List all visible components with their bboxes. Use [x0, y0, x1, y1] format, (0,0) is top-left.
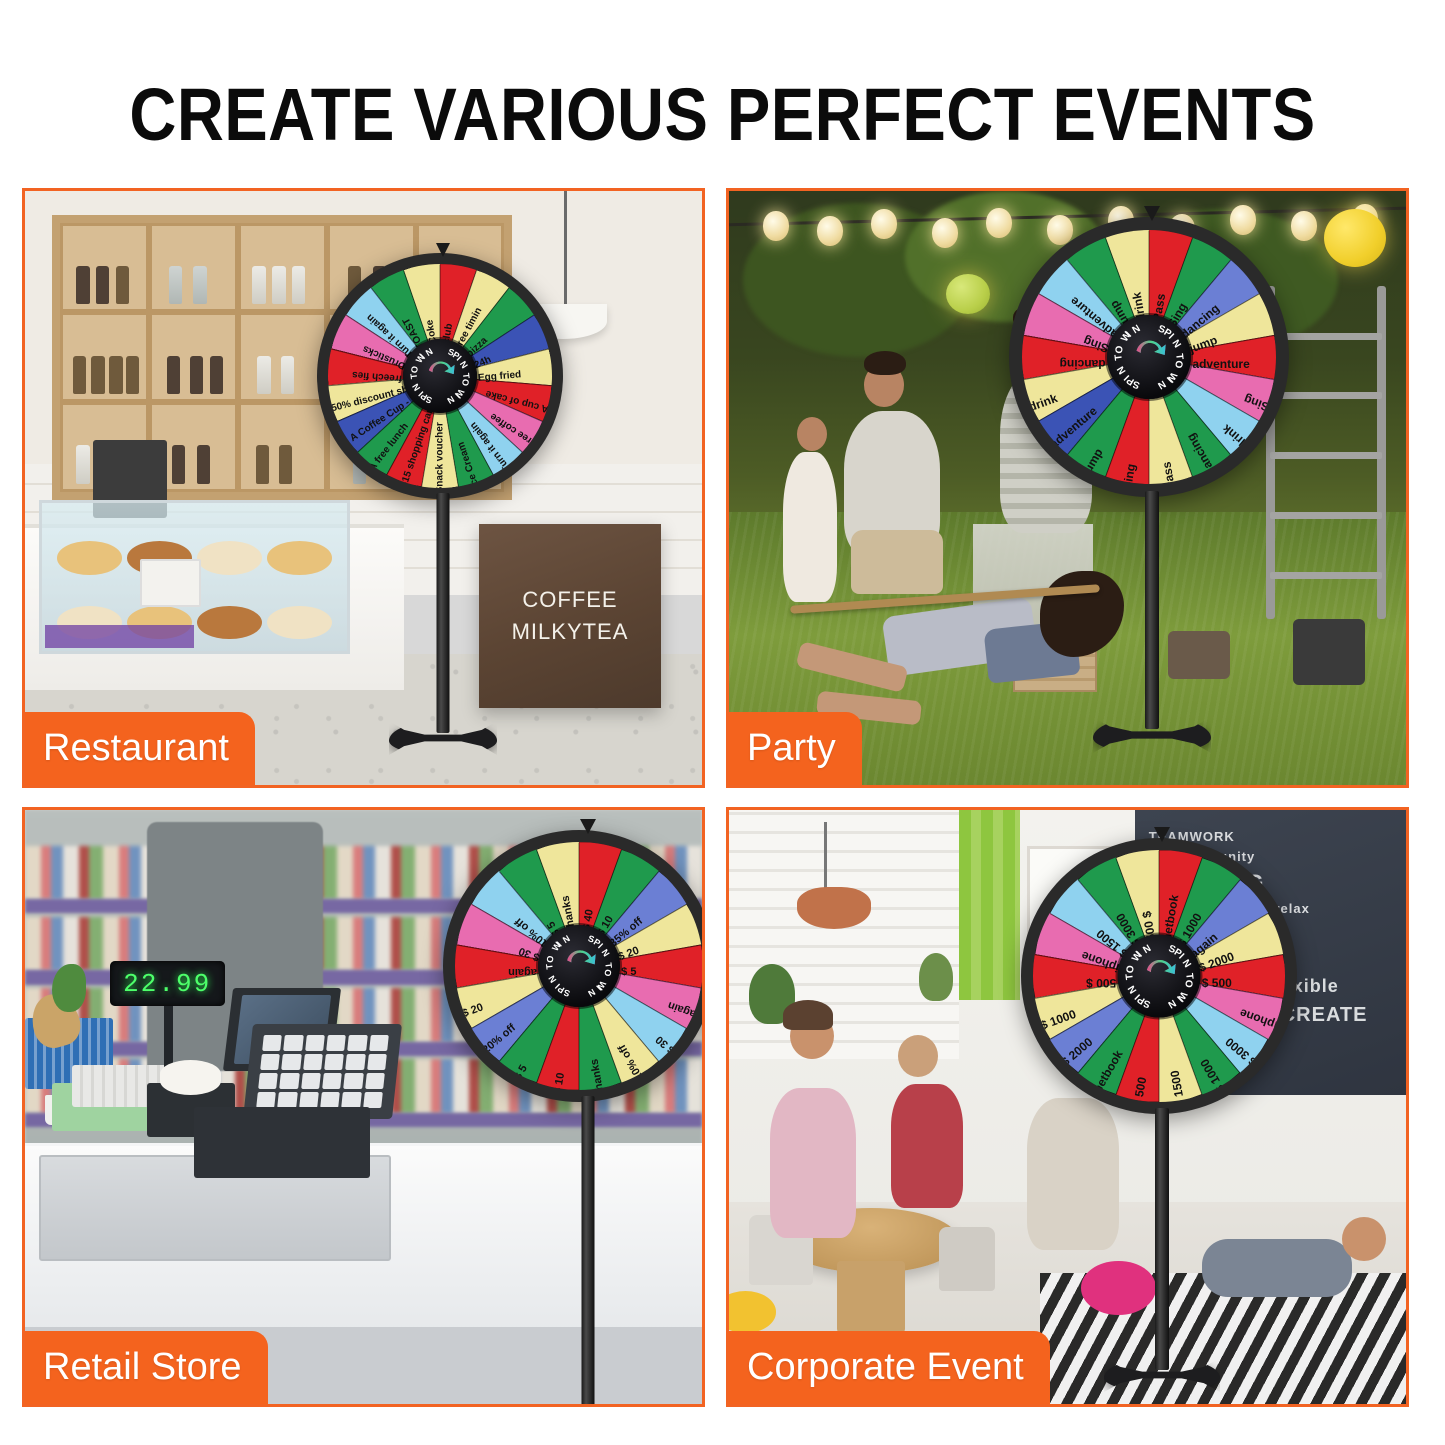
panel-restaurant[interactable]: COFFEE MILKYTEA clubfree timinpizza24hEg…: [22, 188, 705, 788]
guest-hair: [864, 351, 906, 375]
paper-lantern: [1324, 209, 1386, 267]
guest-shorts: [851, 530, 943, 594]
hub-spin-to-win-text: SPIN TO WINSPIN TO WIN: [1118, 935, 1201, 1018]
attendee-head: [1342, 1217, 1386, 1261]
green-curtain: [959, 810, 1020, 1000]
pos-customer-display: 22.99: [110, 961, 225, 1006]
panel-retail-store[interactable]: 22.99 $ 40$ 1035% off$ 20$ 5: [22, 807, 705, 1407]
badge-restaurant: Restaurant: [22, 712, 255, 785]
wheel-face[interactable]: PassSingdancingjumpadventureSingdrinkdan…: [1009, 217, 1289, 497]
scene-grid: COFFEE MILKYTEA clubfree timinpizza24hEg…: [22, 188, 1423, 1423]
cash-drawer[interactable]: [194, 1107, 370, 1178]
copper-pendant-shade: [797, 887, 871, 929]
leafy-greens: [52, 964, 86, 1012]
panel-party[interactable]: PassSingdancingjumpadventureSingdrinkdan…: [726, 188, 1409, 788]
wheel-hub[interactable]: SPIN TO WINSPIN TO WIN: [1118, 935, 1201, 1018]
receipt-roll: [160, 1060, 221, 1096]
panel-corporate-event[interactable]: TEAMWORK Community WORKING THINK LEARN r…: [726, 807, 1409, 1407]
wheel-pole: [582, 1096, 595, 1407]
prize-wheel-corporate[interactable]: netbook$ 1000again$ 2000$ 500iphone$ 300…: [1021, 838, 1303, 1368]
stool: [939, 1227, 995, 1291]
badge-corporate-event: Corporate Event: [726, 1331, 1050, 1404]
wheel-pointer: [580, 819, 596, 834]
pendant-cord: [824, 822, 827, 893]
badge-party: Party: [726, 712, 862, 785]
wheel-pole: [1145, 491, 1159, 729]
wheel-hub[interactable]: SPIN TO WINSPIN TO WIN: [403, 339, 477, 413]
attendee-hair: [783, 1000, 833, 1030]
wheel-pointer: [1154, 827, 1170, 842]
prize-wheel-party[interactable]: PassSingdancingjumpadventureSingdrinkdan…: [1009, 217, 1295, 737]
plate-stack: [140, 559, 201, 607]
wheel-hub[interactable]: SPIN TO WINSPIN TO WIN: [538, 925, 620, 1007]
guest-standing: [783, 452, 837, 602]
product-feature-image: CREATE VARIOUS PERFECT EVENTS: [0, 0, 1445, 1445]
guest-head: [797, 417, 827, 451]
attendee-standing: [891, 1084, 963, 1208]
pos-keypad[interactable]: [243, 1024, 402, 1119]
wheel-pole: [437, 493, 450, 733]
price-display-value: 22.99: [123, 969, 211, 999]
prize-wheel-retail[interactable]: $ 40$ 1035% off$ 20$ 5again$ 3010% offth…: [443, 830, 705, 1407]
attendee-seated: [770, 1088, 856, 1238]
metal-stool: [1293, 619, 1365, 685]
wheel-pointer: [436, 243, 450, 257]
case-led-strip: [45, 625, 194, 649]
wheel-face[interactable]: netbook$ 1000again$ 2000$ 500iphone$ 300…: [1021, 838, 1297, 1114]
hub-spin-to-win-text: SPIN TO WINSPIN TO WIN: [1107, 315, 1191, 399]
wheel-face[interactable]: clubfree timinpizza24hEgg friedA cup of …: [317, 253, 563, 499]
wheel-pointer: [1144, 206, 1160, 221]
page-title: CREATE VARIOUS PERFECT EVENTS: [87, 72, 1359, 157]
paper-lantern: [946, 274, 990, 314]
potted-plant: [919, 953, 953, 1001]
hub-spin-to-win-text: SPIN TO WINSPIN TO WIN: [538, 925, 620, 1007]
badge-retail-store: Retail Store: [22, 1331, 268, 1404]
hub-spin-to-win-text: SPIN TO WINSPIN TO WIN: [403, 339, 477, 413]
wheel-face[interactable]: $ 40$ 1035% off$ 20$ 5again$ 3010% offth…: [443, 830, 705, 1102]
table-base: [837, 1261, 905, 1332]
wheel-pole: [1155, 1108, 1169, 1370]
wheel-hub[interactable]: SPIN TO WINSPIN TO WIN: [1107, 315, 1191, 399]
prize-wheel-restaurant[interactable]: clubfree timinpizza24hEgg friedA cup of …: [317, 253, 569, 743]
